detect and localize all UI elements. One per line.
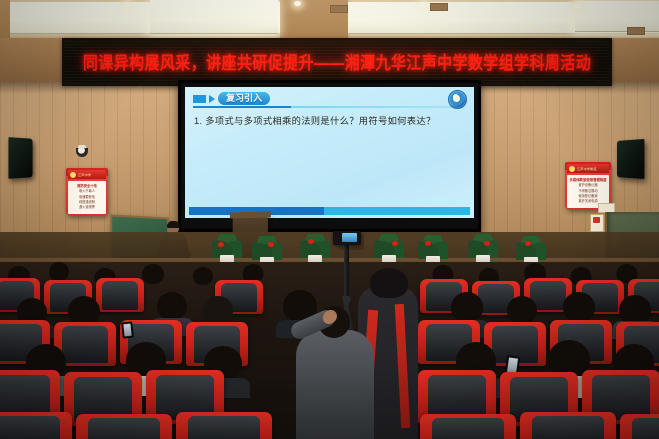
person-head [507, 296, 537, 324]
presentation-slide: 复习引入 1. 多项式与多项式相乘的法则是什么？用符号如何表达？ [185, 87, 474, 218]
school-badge-icon [70, 172, 76, 178]
plant-bloom [525, 241, 531, 246]
led-banner: 同课异构展风采，讲座共研促提升——湘潭九华江声中学数学组学科周活动 [62, 38, 612, 86]
ceiling-beam [0, 0, 10, 40]
auditorium-seat[interactable] [420, 414, 516, 439]
tripod-center-column [344, 243, 349, 301]
poster-sheet: 消防安全十条 明火不离人 电器要断电 疏散通道畅 遇火速报警 [68, 181, 106, 214]
slide-body-text: 1. 多项式与多项式相乘的法则是什么？用符号如何表达？ [194, 115, 466, 128]
camera-dome [76, 148, 88, 157]
auditorium-seat[interactable] [520, 412, 616, 439]
ceiling-light-panel [575, 1, 659, 32]
ceiling-downlight [124, 2, 131, 7]
triangle-play-icon [209, 95, 215, 103]
video-camera-on-tripod[interactable] [333, 231, 361, 245]
audience-member [140, 264, 166, 286]
led-banner-surface: 同课异构展风采，讲座共研促提升——湘潭九华江声中学数学组学科周活动 [64, 40, 610, 84]
person-head [157, 292, 187, 320]
poster-header: 江声中学 [68, 170, 106, 179]
plant-bloom [484, 241, 490, 246]
person-head [142, 264, 164, 284]
ceiling-vent [627, 27, 645, 35]
wall-speaker-left [8, 137, 32, 179]
poster-line: 遇火速报警 [70, 205, 104, 210]
slide-divider [193, 106, 465, 108]
side-wall-notice [590, 214, 604, 232]
poster-header: 江声中学制度 [567, 164, 609, 173]
school-badge-icon [569, 166, 575, 172]
person-head [49, 262, 69, 281]
ceiling [0, 0, 659, 40]
wall-speaker-right [617, 139, 644, 179]
ceiling-light-panel [150, 0, 278, 34]
plant-bloom [392, 241, 398, 246]
ceiling-vent [330, 5, 348, 13]
plant-bloom [268, 242, 274, 247]
operator-body [296, 330, 374, 439]
square-marker-icon [193, 95, 206, 103]
poster-header-text: 江声中学制度 [577, 166, 597, 171]
plant-bloom [425, 241, 431, 246]
lecture-hall-photo: 同课异构展风采，讲座共研促提升——湘潭九华江声中学数学组学科周活动 复习引入 1… [0, 0, 659, 439]
plant-bloom [218, 242, 224, 247]
auditorium-seat[interactable] [76, 414, 172, 439]
plant-bloom [308, 239, 314, 244]
ceiling-vent [430, 3, 448, 11]
banner-wall-left [0, 38, 62, 82]
person-head [451, 292, 483, 322]
projector-screen: 复习引入 1. 多项式与多项式相乘的法则是什么？用符号如何表达？ [178, 80, 481, 232]
ceiling-downlight [294, 1, 301, 6]
ceiling-dome-camera-icon [75, 145, 89, 158]
auditorium-seat[interactable] [176, 412, 272, 439]
person-head [193, 267, 213, 285]
camera-operator [296, 300, 374, 439]
smartphone-held-up[interactable] [121, 321, 134, 338]
audience-member-head [370, 268, 408, 298]
audience-member [190, 267, 216, 289]
ceiling-downlight [575, 3, 582, 8]
poster-header-text: 江声中学 [78, 172, 91, 177]
led-banner-text: 同课异构展风采，讲座共研促提升——湘潭九华江声中学数学组学科周活动 [83, 50, 591, 75]
auditorium-seat[interactable] [0, 412, 72, 439]
person-head [203, 296, 233, 324]
slide-section-label: 复习引入 [218, 92, 270, 105]
teacher-hair [167, 221, 180, 228]
ceiling-downlight [420, 2, 427, 7]
auditorium-seat[interactable] [620, 414, 659, 439]
slide-section-header: 复习引入 [193, 92, 270, 105]
wall-poster-left: 江声中学 消防安全十条 明火不离人 电器要断电 疏散通道畅 遇火速报警 [66, 168, 108, 216]
person-head [563, 292, 595, 322]
school-emblem-icon [448, 90, 467, 109]
